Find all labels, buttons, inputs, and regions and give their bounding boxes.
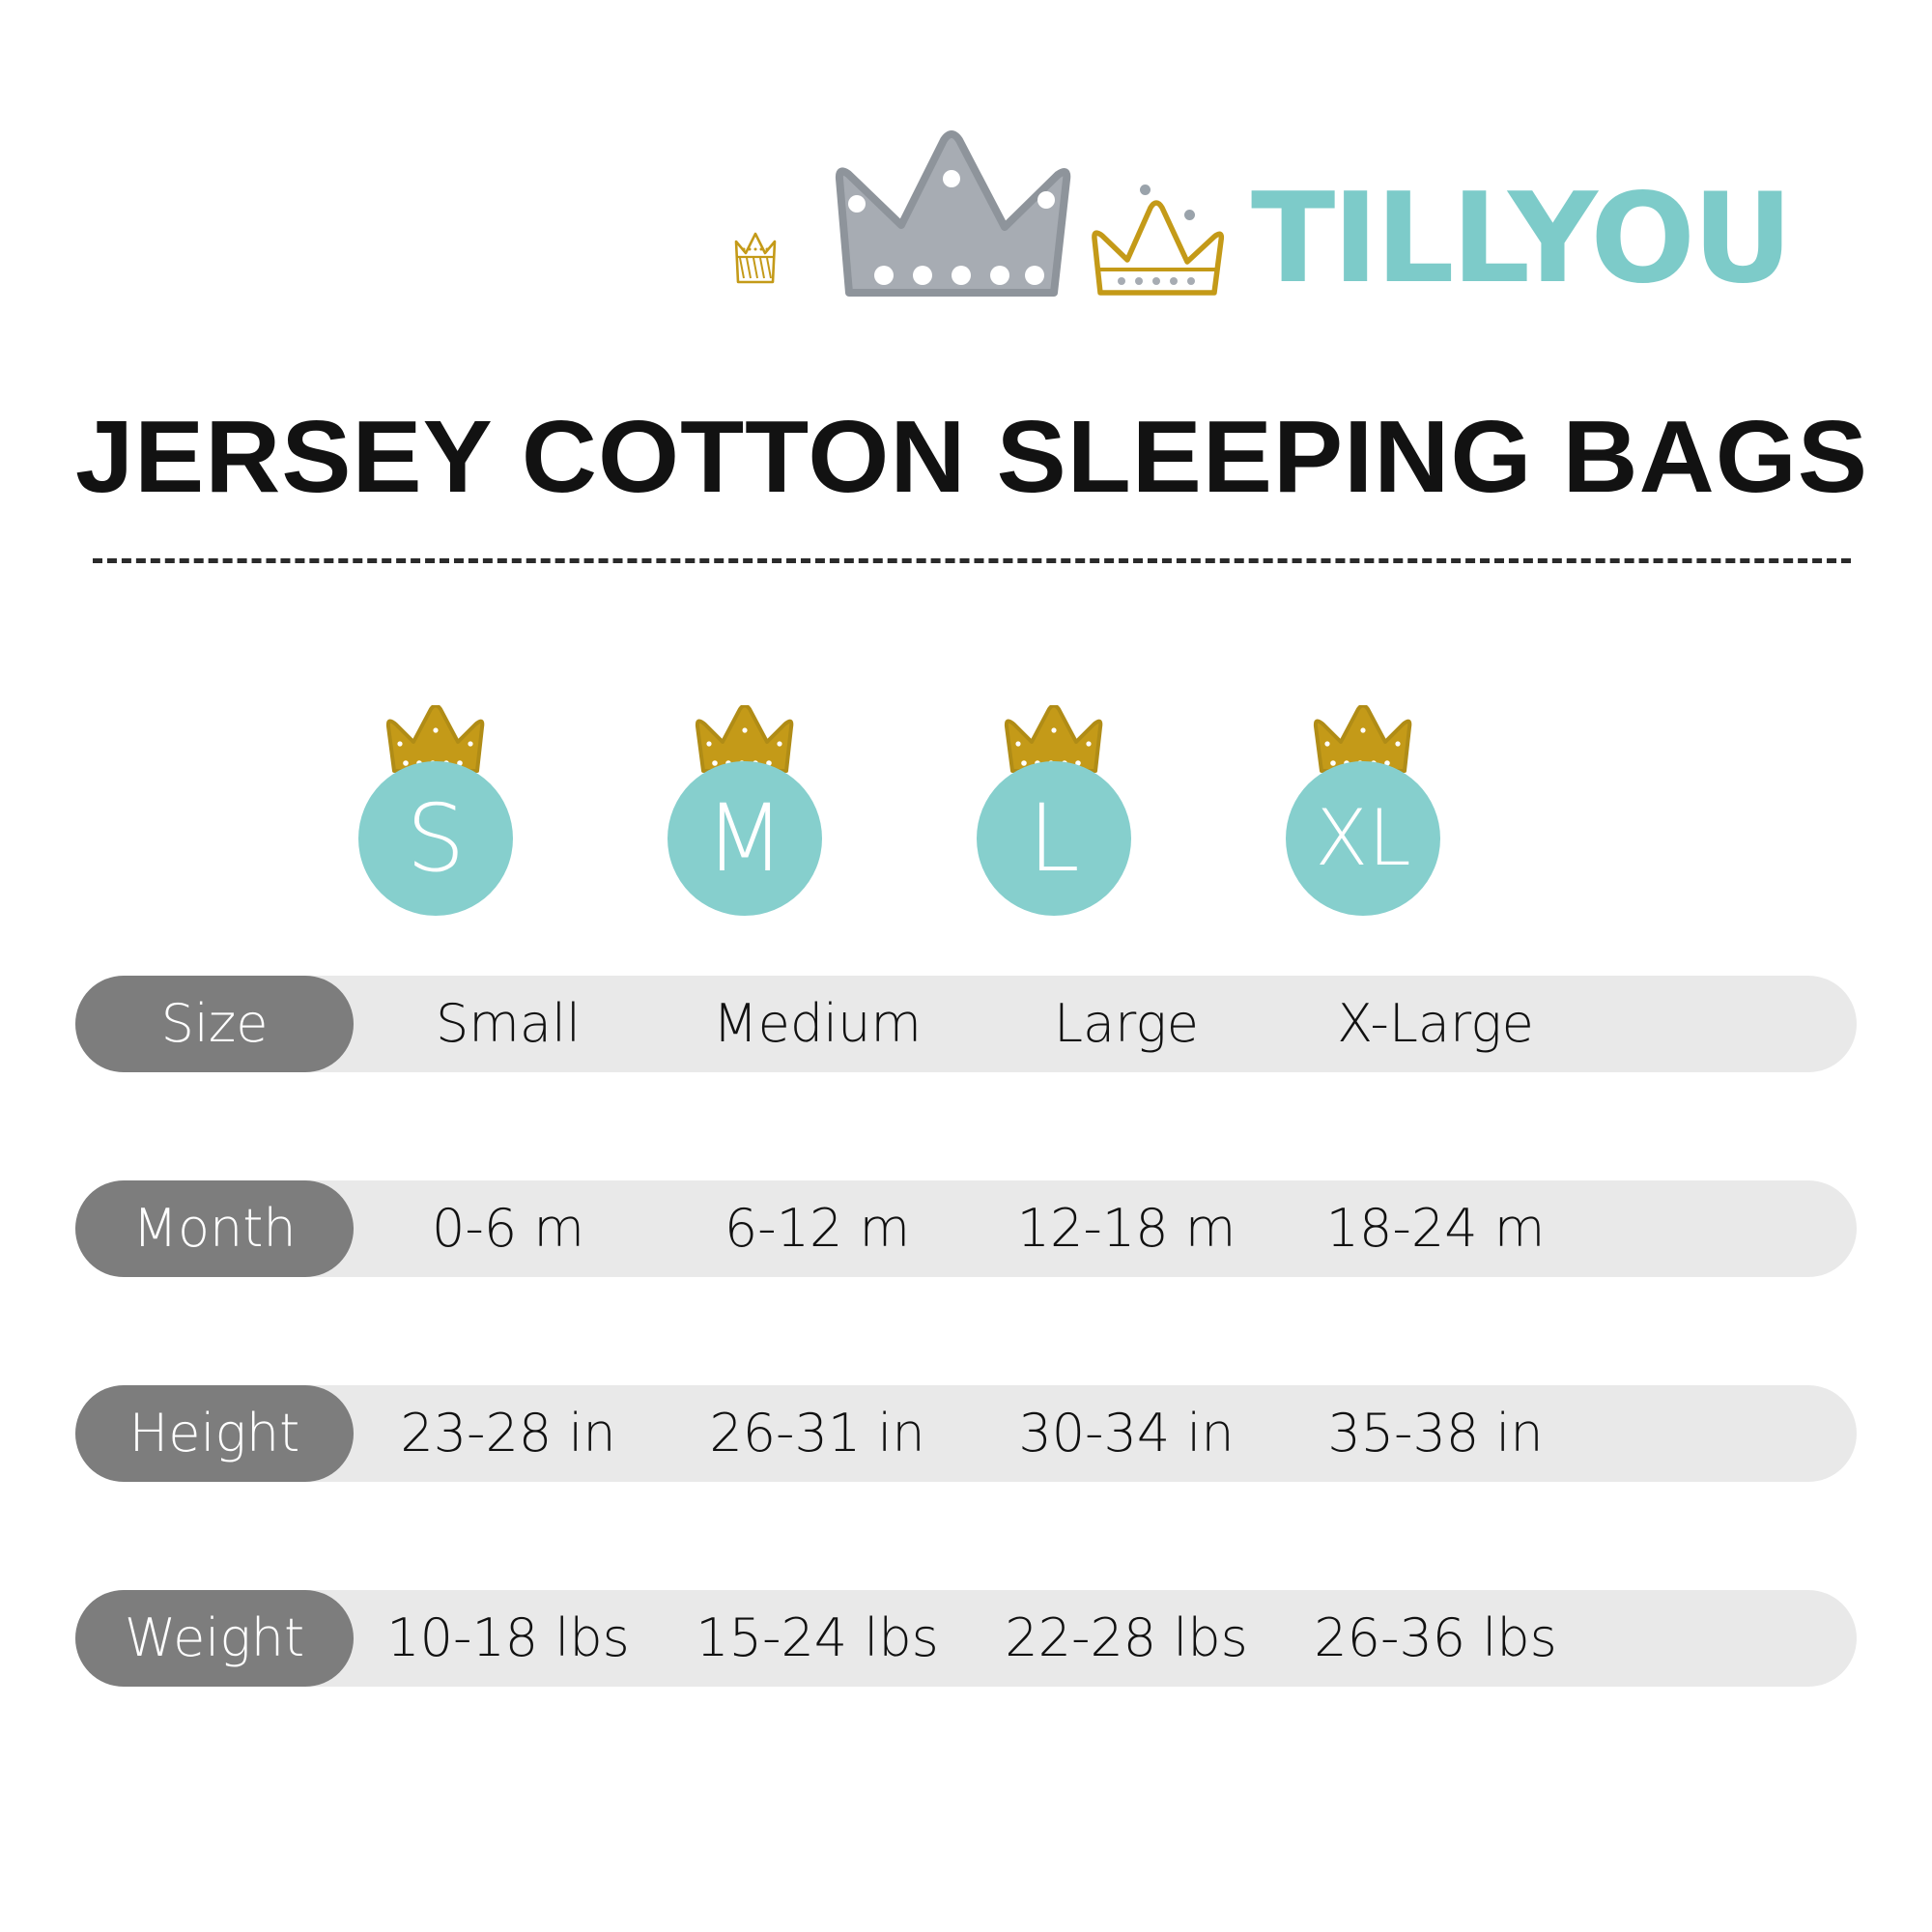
table-row: Month 0-6 m 6-12 m 12-18 m 18-24 m <box>0 1180 1932 1277</box>
cell-height-medium: 26-31 in <box>663 1385 972 1482</box>
crown-outline-small-icon <box>732 228 810 288</box>
badge-letter: L <box>943 761 1165 916</box>
size-badge-small: S <box>325 705 547 947</box>
title-divider <box>93 558 1851 563</box>
cell-month-large: 12-18 m <box>972 1180 1281 1277</box>
cell-weight-small: 10-18 lbs <box>354 1590 663 1687</box>
row-label-weight: Weight <box>75 1590 354 1687</box>
logo-dot-lower <box>1184 210 1195 220</box>
table-row: Height 23-28 in 26-31 in 30-34 in 35-38 … <box>0 1385 1932 1482</box>
page-title: JERSEY COTTON SLEEPING BAGS <box>75 406 1898 508</box>
badge-letter: M <box>634 761 856 916</box>
brand-logo: TILLYOU <box>0 126 1932 309</box>
cell-month-medium: 6-12 m <box>663 1180 972 1277</box>
cell-size-medium: Medium <box>663 976 972 1072</box>
cell-month-xlarge: 18-24 m <box>1281 1180 1590 1277</box>
cell-weight-xlarge: 26-36 lbs <box>1281 1590 1590 1687</box>
cell-month-small: 0-6 m <box>354 1180 663 1277</box>
size-badge-medium: M <box>634 705 856 947</box>
table-row: Weight 10-18 lbs 15-24 lbs 22-28 lbs 26-… <box>0 1590 1932 1687</box>
size-badge-xlarge: XL <box>1252 705 1474 947</box>
brand-name: TILLYOU <box>1251 178 1790 301</box>
row-label-month: Month <box>75 1180 354 1277</box>
size-badge-row: S M L <box>0 705 1932 947</box>
cell-height-xlarge: 35-38 in <box>1281 1385 1590 1482</box>
logo-dot-upper <box>1140 185 1151 195</box>
cell-weight-medium: 15-24 lbs <box>663 1590 972 1687</box>
cell-height-large: 30-34 in <box>972 1385 1281 1482</box>
cell-size-xlarge: X-Large <box>1281 976 1590 1072</box>
badge-letter: S <box>325 761 547 916</box>
size-chart-table: Size Small Medium Large X-Large Month 0-… <box>0 976 1932 1795</box>
cell-weight-large: 22-28 lbs <box>972 1590 1281 1687</box>
cell-size-small: Small <box>354 976 663 1072</box>
cell-height-small: 23-28 in <box>354 1385 663 1482</box>
row-label-height: Height <box>75 1385 354 1482</box>
brand-logo-inner: TILLYOU <box>715 126 1874 309</box>
crown-outline-mid-icon <box>1087 196 1236 298</box>
crown-gray-large-icon <box>826 128 1082 298</box>
table-row: Size Small Medium Large X-Large <box>0 976 1932 1072</box>
row-label-size: Size <box>75 976 354 1072</box>
cell-size-large: Large <box>972 976 1281 1072</box>
size-badge-large: L <box>943 705 1165 947</box>
badge-letter: XL <box>1252 761 1474 916</box>
